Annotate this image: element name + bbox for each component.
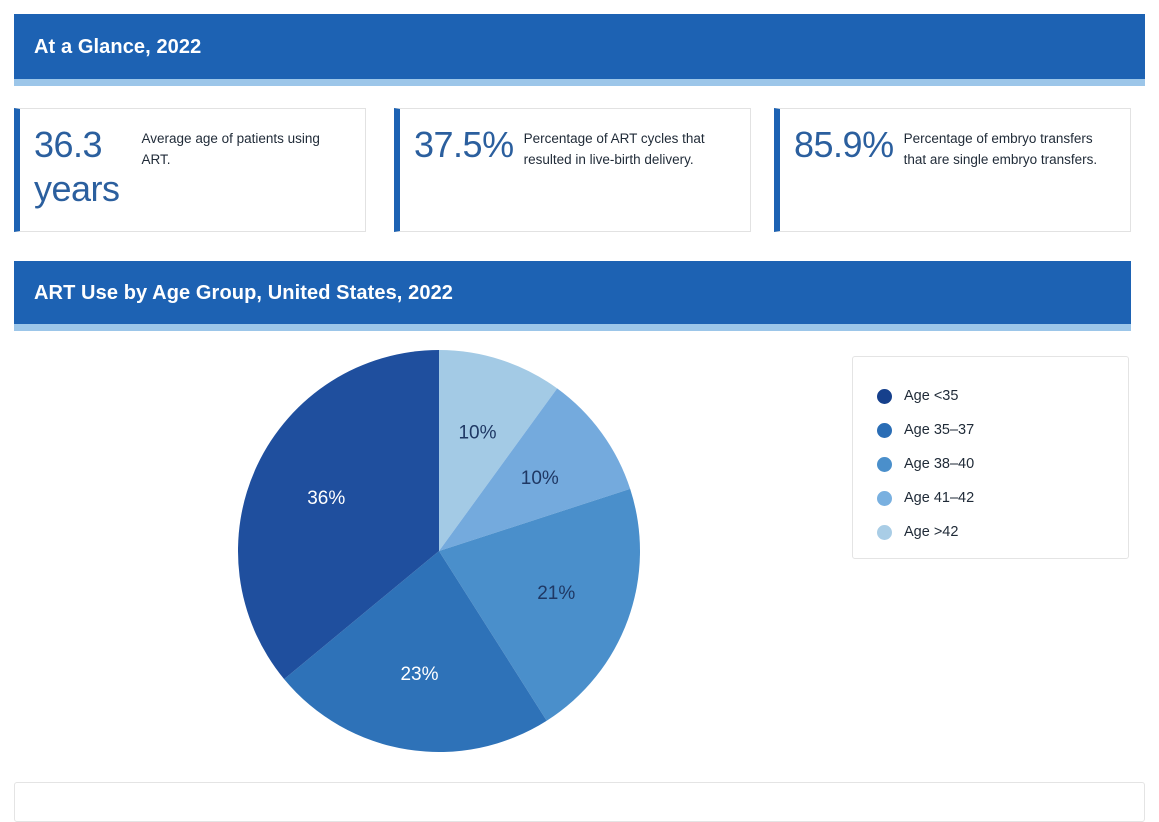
legend-item[interactable]: Age >42 (877, 515, 1128, 549)
stat-description: Average age of patients using ART. (120, 123, 342, 170)
legend-item[interactable]: Age 38–40 (877, 447, 1128, 481)
pie-chart: 10%10%21%23%36% (224, 348, 654, 758)
section-title-at-a-glance: At a Glance, 2022 (34, 35, 201, 59)
legend-item[interactable]: Age 35–37 (877, 413, 1128, 447)
stat-card-average-age: 36.3 years Average age of patients using… (14, 108, 366, 232)
section-header-accent-bar (14, 79, 1145, 86)
stat-card-single-embryo-transfer: 85.9% Percentage of embryo transfers tha… (774, 108, 1131, 232)
stat-description: Percentage of ART cycles that resulted i… (514, 123, 724, 170)
legend-swatch-icon (877, 525, 892, 540)
stat-card-live-birth-rate: 37.5% Percentage of ART cycles that resu… (394, 108, 751, 232)
legend-item[interactable]: Age <35 (877, 379, 1128, 413)
pie-data-label: 10% (521, 468, 559, 489)
stat-description: Percentage of embryo transfers that are … (894, 123, 1104, 170)
next-section-panel (14, 782, 1145, 822)
section-title-art-use-by-age-group: ART Use by Age Group, United States, 202… (34, 281, 453, 305)
section-header-art-use-by-age-group: ART Use by Age Group, United States, 202… (14, 261, 1131, 324)
legend-item-label: Age 38–40 (904, 457, 974, 472)
legend-item-label: Age <35 (904, 389, 958, 404)
legend-item-label: Age 41–42 (904, 491, 974, 506)
pie-data-label: 23% (400, 664, 438, 685)
stat-value: 37.5% (414, 123, 514, 167)
section-header-accent-bar (14, 324, 1131, 331)
pie-data-label: 10% (458, 422, 496, 443)
dashboard-page: At a Glance, 2022 36.3 years Average age… (0, 0, 1159, 792)
legend-swatch-icon (877, 457, 892, 472)
legend-item[interactable]: Age 41–42 (877, 481, 1128, 515)
pie-data-label: 21% (537, 583, 575, 604)
chart-legend: Age <35 Age 35–37 Age 38–40 Age 41–42 Ag… (852, 356, 1129, 559)
legend-item-label: Age >42 (904, 525, 958, 540)
pie-data-label: 36% (307, 488, 345, 509)
stat-value: 36.3 years (34, 123, 120, 211)
stat-value: 85.9% (794, 123, 894, 167)
section-header-at-a-glance: At a Glance, 2022 (14, 14, 1145, 79)
legend-swatch-icon (877, 389, 892, 404)
legend-item-label: Age 35–37 (904, 423, 974, 438)
legend-swatch-icon (877, 491, 892, 506)
pie-slice-group (238, 350, 640, 752)
legend-swatch-icon (877, 423, 892, 438)
